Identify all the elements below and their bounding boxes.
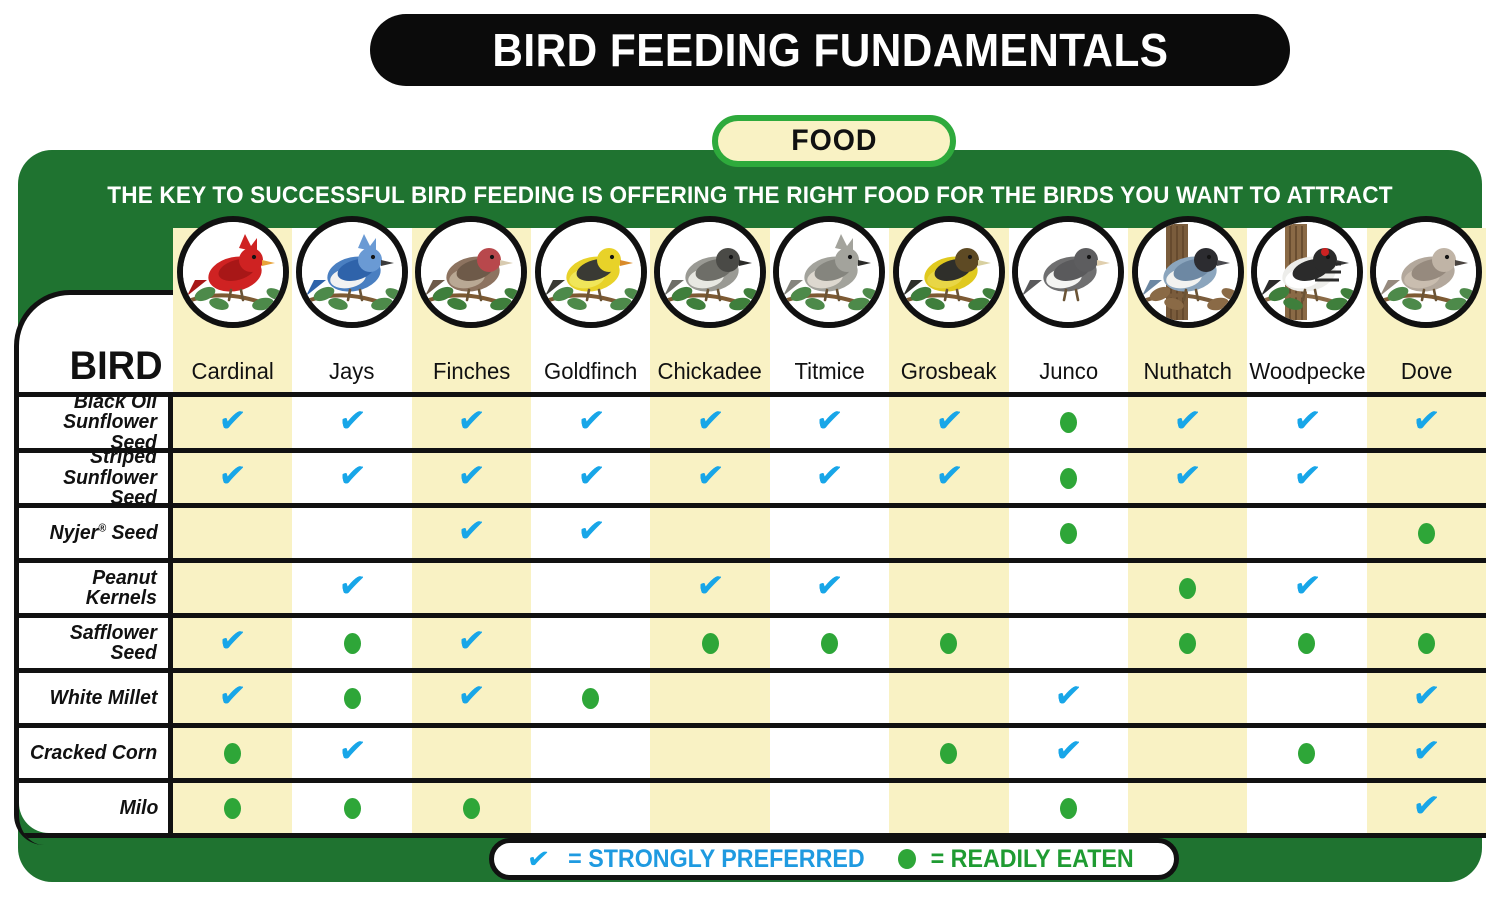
- bird-corner-label: BIRD: [70, 344, 170, 397]
- cell-blackoilsunflowerseed-chickadee: ✔: [650, 397, 769, 448]
- cell-whitemillet-nuthatch: [1128, 673, 1247, 723]
- bird-name-label: Chickadee: [653, 358, 768, 385]
- cell-crackedcorn-goldfinch: [531, 728, 650, 778]
- food-row-label-text: Nyjer® Seed: [49, 523, 157, 543]
- bird-junco-icon: [1012, 216, 1124, 328]
- table-row-cells: ✔✔✔✔: [173, 563, 1486, 613]
- cell-nyjerseed-dove: [1367, 508, 1486, 558]
- comparison-table: Cardinal Jays: [14, 290, 1486, 845]
- table-row-cells: ✔: [173, 783, 1486, 833]
- cell-nyjerseed-cardinal: [173, 508, 292, 558]
- cell-whitemillet-jays: [292, 673, 411, 723]
- cell-whitemillet-finches: ✔: [412, 673, 531, 723]
- table-row-cells: ✔✔: [173, 508, 1486, 558]
- cell-milo-junco: [1009, 783, 1128, 833]
- food-badge-label: FOOD: [791, 124, 877, 158]
- cell-stripedsunflowerseed-junco: [1009, 453, 1128, 503]
- cell-blackoilsunflowerseed-junco: [1009, 397, 1128, 448]
- bird-dove-icon: [1370, 216, 1482, 328]
- cell-safflowerseed-finches: ✔: [412, 618, 531, 668]
- check-mark-icon: ✔: [337, 402, 367, 439]
- bird-name-label: Cardinal: [175, 358, 290, 385]
- food-row-label: White Millet: [19, 673, 173, 723]
- cell-crackedcorn-finches: [412, 728, 531, 778]
- bird-column-header-woodpecker: Woodpecker: [1247, 228, 1366, 397]
- bird-column-header-goldfinch: Goldfinch: [531, 228, 650, 397]
- cell-milo-jays: [292, 783, 411, 833]
- table-row-cells: ✔✔✔✔✔✔✔✔✔✔: [173, 397, 1486, 448]
- food-row-label-text: Milo: [120, 798, 159, 818]
- table-row: Cracked Corn✔✔✔: [19, 728, 1486, 783]
- cell-safflowerseed-cardinal: ✔: [173, 618, 292, 668]
- table-row: StripedSunflower Seed✔✔✔✔✔✔✔✔✔: [19, 453, 1486, 508]
- legend-check-label: = STRONGLY PREFERRED: [568, 845, 865, 874]
- cell-crackedcorn-nuthatch: [1128, 728, 1247, 778]
- cell-milo-cardinal: [173, 783, 292, 833]
- table-row: Safflower Seed✔✔: [19, 618, 1486, 673]
- bird-column-header-cardinal: Cardinal: [173, 228, 292, 397]
- cell-nyjerseed-titmice: [770, 508, 889, 558]
- cell-peanutkernels-jays: ✔: [292, 563, 411, 613]
- check-mark-icon: ✔: [337, 568, 367, 605]
- green-dot-icon: [344, 798, 361, 819]
- check-mark-icon: ✔: [576, 458, 606, 495]
- cell-blackoilsunflowerseed-dove: ✔: [1367, 397, 1486, 448]
- check-mark-icon: ✔: [934, 458, 964, 495]
- green-dot-icon: [1060, 798, 1077, 819]
- green-dot-icon: [1298, 633, 1315, 654]
- green-dot-icon: [940, 743, 957, 764]
- cell-blackoilsunflowerseed-cardinal: ✔: [173, 397, 292, 448]
- table-row: Peanut Kernels✔✔✔✔: [19, 563, 1486, 618]
- cell-nyjerseed-chickadee: [650, 508, 769, 558]
- green-dot-icon: [821, 633, 838, 654]
- check-mark-icon: ✔: [1172, 458, 1202, 495]
- check-mark-icon: ✔: [814, 458, 844, 495]
- check-mark-icon: ✔: [814, 402, 844, 439]
- food-row-label-text: Black OilSunflower Seed: [21, 397, 157, 453]
- check-mark-icon: ✔: [217, 678, 247, 715]
- green-dot-icon: [344, 633, 361, 654]
- check-mark-icon: ✔: [456, 678, 486, 715]
- check-mark-icon: ✔: [695, 458, 725, 495]
- cell-safflowerseed-woodpecker: [1247, 618, 1366, 668]
- check-mark-icon: ✔: [337, 733, 367, 770]
- cell-safflowerseed-titmice: [770, 618, 889, 668]
- cell-nyjerseed-nuthatch: [1128, 508, 1247, 558]
- bird-goldfinch-icon: [535, 216, 647, 328]
- cell-stripedsunflowerseed-dove: [1367, 453, 1486, 503]
- cell-milo-nuthatch: [1128, 783, 1247, 833]
- bird-name-label: Junco: [1011, 358, 1126, 385]
- table-row: Nyjer® Seed✔✔: [19, 508, 1486, 563]
- cell-peanutkernels-goldfinch: [531, 563, 650, 613]
- cell-peanutkernels-dove: [1367, 563, 1486, 613]
- check-mark-icon: ✔: [934, 402, 964, 439]
- check-mark-icon: ✔: [456, 402, 486, 439]
- cell-safflowerseed-chickadee: [650, 618, 769, 668]
- cell-nyjerseed-finches: ✔: [412, 508, 531, 558]
- cell-stripedsunflowerseed-titmice: ✔: [770, 453, 889, 503]
- page-title: BIRD FEEDING FUNDAMENTALS: [492, 23, 1168, 77]
- bird-nuthatch-icon: [1132, 216, 1244, 328]
- check-mark-icon: ✔: [576, 402, 606, 439]
- green-dot-icon: [224, 798, 241, 819]
- check-mark-icon: ✔: [1411, 733, 1441, 770]
- check-mark-icon: ✔: [526, 844, 551, 873]
- food-row-label: Cracked Corn: [19, 728, 173, 778]
- cell-stripedsunflowerseed-nuthatch: ✔: [1128, 453, 1247, 503]
- green-dot-icon: [1298, 743, 1315, 764]
- legend-dot-group: = READILY EATEN: [898, 845, 1141, 874]
- green-dot-icon: [1418, 633, 1435, 654]
- cell-milo-goldfinch: [531, 783, 650, 833]
- cell-whitemillet-dove: ✔: [1367, 673, 1486, 723]
- cell-milo-finches: [412, 783, 531, 833]
- cell-crackedcorn-junco: ✔: [1009, 728, 1128, 778]
- green-dot-icon: [940, 633, 957, 654]
- cell-safflowerseed-dove: [1367, 618, 1486, 668]
- green-dot-icon: [702, 633, 719, 654]
- check-mark-icon: ✔: [1172, 402, 1202, 439]
- bird-chickadee-icon: [654, 216, 766, 328]
- food-row-label: Milo: [19, 783, 173, 833]
- cell-stripedsunflowerseed-cardinal: ✔: [173, 453, 292, 503]
- cell-peanutkernels-junco: [1009, 563, 1128, 613]
- food-row-label: Black OilSunflower Seed: [19, 397, 173, 448]
- food-row-label: StripedSunflower Seed: [19, 453, 173, 503]
- food-row-label-text: Safflower Seed: [21, 623, 157, 664]
- cell-blackoilsunflowerseed-goldfinch: ✔: [531, 397, 650, 448]
- bird-name-label: Grosbeak: [892, 358, 1007, 385]
- table-row: Black OilSunflower Seed✔✔✔✔✔✔✔✔✔✔: [19, 397, 1486, 453]
- check-mark-icon: ✔: [456, 458, 486, 495]
- subtitle-text: THE KEY TO SUCCESSFUL BIRD FEEDING IS OF…: [62, 182, 1438, 210]
- cell-milo-woodpecker: [1247, 783, 1366, 833]
- cell-whitemillet-woodpecker: [1247, 673, 1366, 723]
- bird-column-header-dove: Dove: [1367, 228, 1486, 397]
- check-mark-icon: ✔: [695, 568, 725, 605]
- check-mark-icon: ✔: [695, 402, 725, 439]
- food-row-label-text: Cracked Corn: [30, 743, 157, 763]
- check-mark-icon: ✔: [337, 458, 367, 495]
- green-dot-icon: [1060, 468, 1077, 489]
- check-mark-icon: ✔: [1411, 788, 1441, 825]
- bird-name-label: Nuthatch: [1130, 358, 1245, 385]
- check-mark-icon: ✔: [456, 623, 486, 660]
- check-mark-icon: ✔: [1292, 568, 1322, 605]
- cell-whitemillet-junco: ✔: [1009, 673, 1128, 723]
- infographic-root: BIRD FEEDING FUNDAMENTALS FOOD THE KEY T…: [0, 0, 1500, 897]
- check-mark-icon: ✔: [1292, 458, 1322, 495]
- food-row-label-text: Peanut Kernels: [21, 568, 157, 609]
- food-row-label-text: StripedSunflower Seed: [21, 447, 157, 508]
- check-mark-icon: ✔: [1411, 678, 1441, 715]
- bird-titmouse-icon: [773, 216, 885, 328]
- bird-name-label: Titmice: [772, 358, 887, 385]
- cell-crackedcorn-chickadee: [650, 728, 769, 778]
- table-row-cells: ✔✔✔✔: [173, 673, 1486, 723]
- check-mark-icon: ✔: [1053, 733, 1083, 770]
- green-dot-icon: [1060, 523, 1077, 544]
- cell-safflowerseed-grosbeak: [889, 618, 1008, 668]
- table-row-cells: ✔✔: [173, 618, 1486, 668]
- cell-milo-dove: ✔: [1367, 783, 1486, 833]
- cell-crackedcorn-dove: ✔: [1367, 728, 1486, 778]
- bird-cardinal-icon: [177, 216, 289, 328]
- cell-whitemillet-titmice: [770, 673, 889, 723]
- cell-crackedcorn-grosbeak: [889, 728, 1008, 778]
- legend-check-group: ✔ = STRONGLY PREFERRED: [527, 845, 875, 874]
- food-row-label: Safflower Seed: [19, 618, 173, 668]
- bird-column-header-titmice: Titmice: [770, 228, 889, 397]
- cell-nyjerseed-junco: [1009, 508, 1128, 558]
- cell-stripedsunflowerseed-finches: ✔: [412, 453, 531, 503]
- cell-blackoilsunflowerseed-nuthatch: ✔: [1128, 397, 1247, 448]
- cell-blackoilsunflowerseed-finches: ✔: [412, 397, 531, 448]
- cell-stripedsunflowerseed-woodpecker: ✔: [1247, 453, 1366, 503]
- bird-column-header-junco: Junco: [1009, 228, 1128, 397]
- check-mark-icon: ✔: [576, 513, 606, 550]
- bird-column-header-grosbeak: Grosbeak: [889, 228, 1008, 397]
- cell-whitemillet-cardinal: ✔: [173, 673, 292, 723]
- cell-blackoilsunflowerseed-titmice: ✔: [770, 397, 889, 448]
- green-dot-icon: [1179, 633, 1196, 654]
- check-mark-icon: ✔: [814, 568, 844, 605]
- green-dot-icon: [582, 688, 599, 709]
- bird-name-label: Jays: [295, 358, 410, 385]
- cell-crackedcorn-cardinal: [173, 728, 292, 778]
- cell-milo-chickadee: [650, 783, 769, 833]
- bird-blue-jay-icon: [296, 216, 408, 328]
- green-dot-icon: [463, 798, 480, 819]
- green-dot-icon: [898, 849, 916, 869]
- green-dot-icon: [1060, 412, 1077, 433]
- cell-nyjerseed-jays: [292, 508, 411, 558]
- cell-blackoilsunflowerseed-jays: ✔: [292, 397, 411, 448]
- table-body: Black OilSunflower Seed✔✔✔✔✔✔✔✔✔✔Striped…: [14, 397, 1486, 845]
- food-row-label: Peanut Kernels: [19, 563, 173, 613]
- green-dot-icon: [1418, 523, 1435, 544]
- cell-stripedsunflowerseed-chickadee: ✔: [650, 453, 769, 503]
- cell-milo-titmice: [770, 783, 889, 833]
- cell-peanutkernels-chickadee: ✔: [650, 563, 769, 613]
- bird-name-label: Dove: [1369, 358, 1484, 385]
- cell-milo-grosbeak: [889, 783, 1008, 833]
- cell-whitemillet-goldfinch: [531, 673, 650, 723]
- cell-crackedcorn-jays: ✔: [292, 728, 411, 778]
- bird-corner-box: BIRD: [14, 290, 173, 397]
- cell-crackedcorn-titmice: [770, 728, 889, 778]
- green-dot-icon: [344, 688, 361, 709]
- green-dot-icon: [224, 743, 241, 764]
- bird-column-header-nuthatch: Nuthatch: [1128, 228, 1247, 397]
- check-mark-icon: ✔: [217, 623, 247, 660]
- legend: ✔ = STRONGLY PREFERRED = READILY EATEN: [489, 838, 1179, 880]
- cell-peanutkernels-cardinal: [173, 563, 292, 613]
- cell-blackoilsunflowerseed-grosbeak: ✔: [889, 397, 1008, 448]
- food-row-label: Nyjer® Seed: [19, 508, 173, 558]
- table-row-cells: ✔✔✔: [173, 728, 1486, 778]
- cell-nyjerseed-grosbeak: [889, 508, 1008, 558]
- cell-peanutkernels-finches: [412, 563, 531, 613]
- food-badge: FOOD: [712, 115, 956, 167]
- cell-stripedsunflowerseed-goldfinch: ✔: [531, 453, 650, 503]
- cell-whitemillet-chickadee: [650, 673, 769, 723]
- check-mark-icon: ✔: [217, 402, 247, 439]
- table-row: Milo✔: [19, 783, 1486, 838]
- cell-peanutkernels-woodpecker: ✔: [1247, 563, 1366, 613]
- cell-stripedsunflowerseed-grosbeak: ✔: [889, 453, 1008, 503]
- page-title-pill: BIRD FEEDING FUNDAMENTALS: [370, 14, 1290, 86]
- cell-nyjerseed-woodpecker: [1247, 508, 1366, 558]
- cell-peanutkernels-nuthatch: [1128, 563, 1247, 613]
- table-row: White Millet✔✔✔✔: [19, 673, 1486, 728]
- bird-name-label: Woodpecker: [1250, 358, 1365, 385]
- check-mark-icon: ✔: [217, 458, 247, 495]
- bird-column-header-jays: Jays: [292, 228, 411, 397]
- cell-stripedsunflowerseed-jays: ✔: [292, 453, 411, 503]
- cell-safflowerseed-junco: [1009, 618, 1128, 668]
- food-row-label-text: White Millet: [50, 688, 158, 708]
- check-mark-icon: ✔: [1411, 402, 1441, 439]
- legend-dot-label: = READILY EATEN: [930, 845, 1133, 874]
- cell-whitemillet-grosbeak: [889, 673, 1008, 723]
- table-column-headers: Cardinal Jays: [173, 228, 1486, 397]
- cell-safflowerseed-goldfinch: [531, 618, 650, 668]
- bird-woodpecker-icon: [1251, 216, 1363, 328]
- cell-safflowerseed-nuthatch: [1128, 618, 1247, 668]
- check-mark-icon: ✔: [1292, 402, 1322, 439]
- cell-peanutkernels-titmice: ✔: [770, 563, 889, 613]
- bird-name-label: Goldfinch: [533, 358, 648, 385]
- check-mark-icon: ✔: [456, 513, 486, 550]
- table-row-cells: ✔✔✔✔✔✔✔✔✔: [173, 453, 1486, 503]
- cell-blackoilsunflowerseed-woodpecker: ✔: [1247, 397, 1366, 448]
- bird-house-finch-icon: [415, 216, 527, 328]
- bird-column-header-chickadee: Chickadee: [650, 228, 769, 397]
- cell-safflowerseed-jays: [292, 618, 411, 668]
- cell-peanutkernels-grosbeak: [889, 563, 1008, 613]
- bird-grosbeak-icon: [893, 216, 1005, 328]
- green-dot-icon: [1179, 578, 1196, 599]
- check-mark-icon: ✔: [1053, 678, 1083, 715]
- bird-name-label: Finches: [414, 358, 529, 385]
- cell-crackedcorn-woodpecker: [1247, 728, 1366, 778]
- cell-nyjerseed-goldfinch: ✔: [531, 508, 650, 558]
- bird-column-header-finches: Finches: [412, 228, 531, 397]
